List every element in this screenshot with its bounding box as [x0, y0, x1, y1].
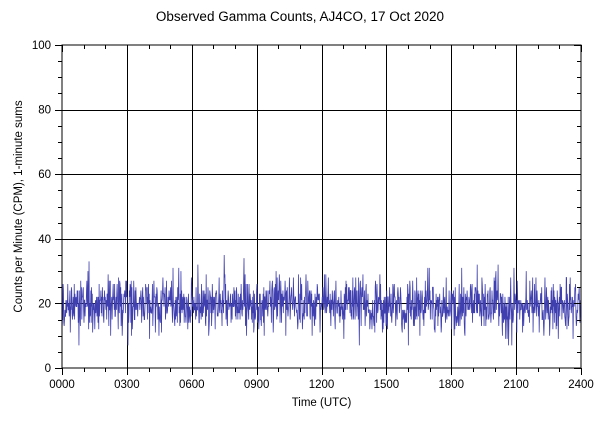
- gamma-counts-plot: 000003000600090012001500180021002400 020…: [0, 0, 600, 428]
- x-tick-label: 2100: [503, 379, 529, 391]
- x-tick-label: 1800: [438, 379, 464, 391]
- y-tick-label: 60: [38, 169, 51, 181]
- y-tick-label: 40: [38, 234, 51, 246]
- y-axis-title: Counts per Minute (CPM), 1-minute sums: [13, 100, 25, 312]
- x-tick-label: 0300: [114, 379, 140, 391]
- x-tick-label: 1200: [309, 379, 335, 391]
- y-tick-label: 100: [32, 40, 51, 52]
- y-tick-label: 80: [38, 105, 51, 117]
- x-tick-label: 0600: [179, 379, 205, 391]
- y-tick-label: 20: [38, 298, 51, 310]
- x-axis-title: Time (UTC): [292, 397, 352, 409]
- y-tick-label: 0: [45, 363, 51, 375]
- x-tick-label: 2400: [568, 379, 594, 391]
- chart-figure: Observed Gamma Counts, AJ4CO, 17 Oct 202…: [0, 0, 600, 428]
- x-tick-label: 1500: [374, 379, 400, 391]
- x-tick-label: 0900: [244, 379, 270, 391]
- y-axis-tick-labels: 020406080100: [32, 40, 51, 375]
- x-axis-tick-labels: 000003000600090012001500180021002400: [49, 379, 594, 391]
- x-tick-label: 0000: [49, 379, 75, 391]
